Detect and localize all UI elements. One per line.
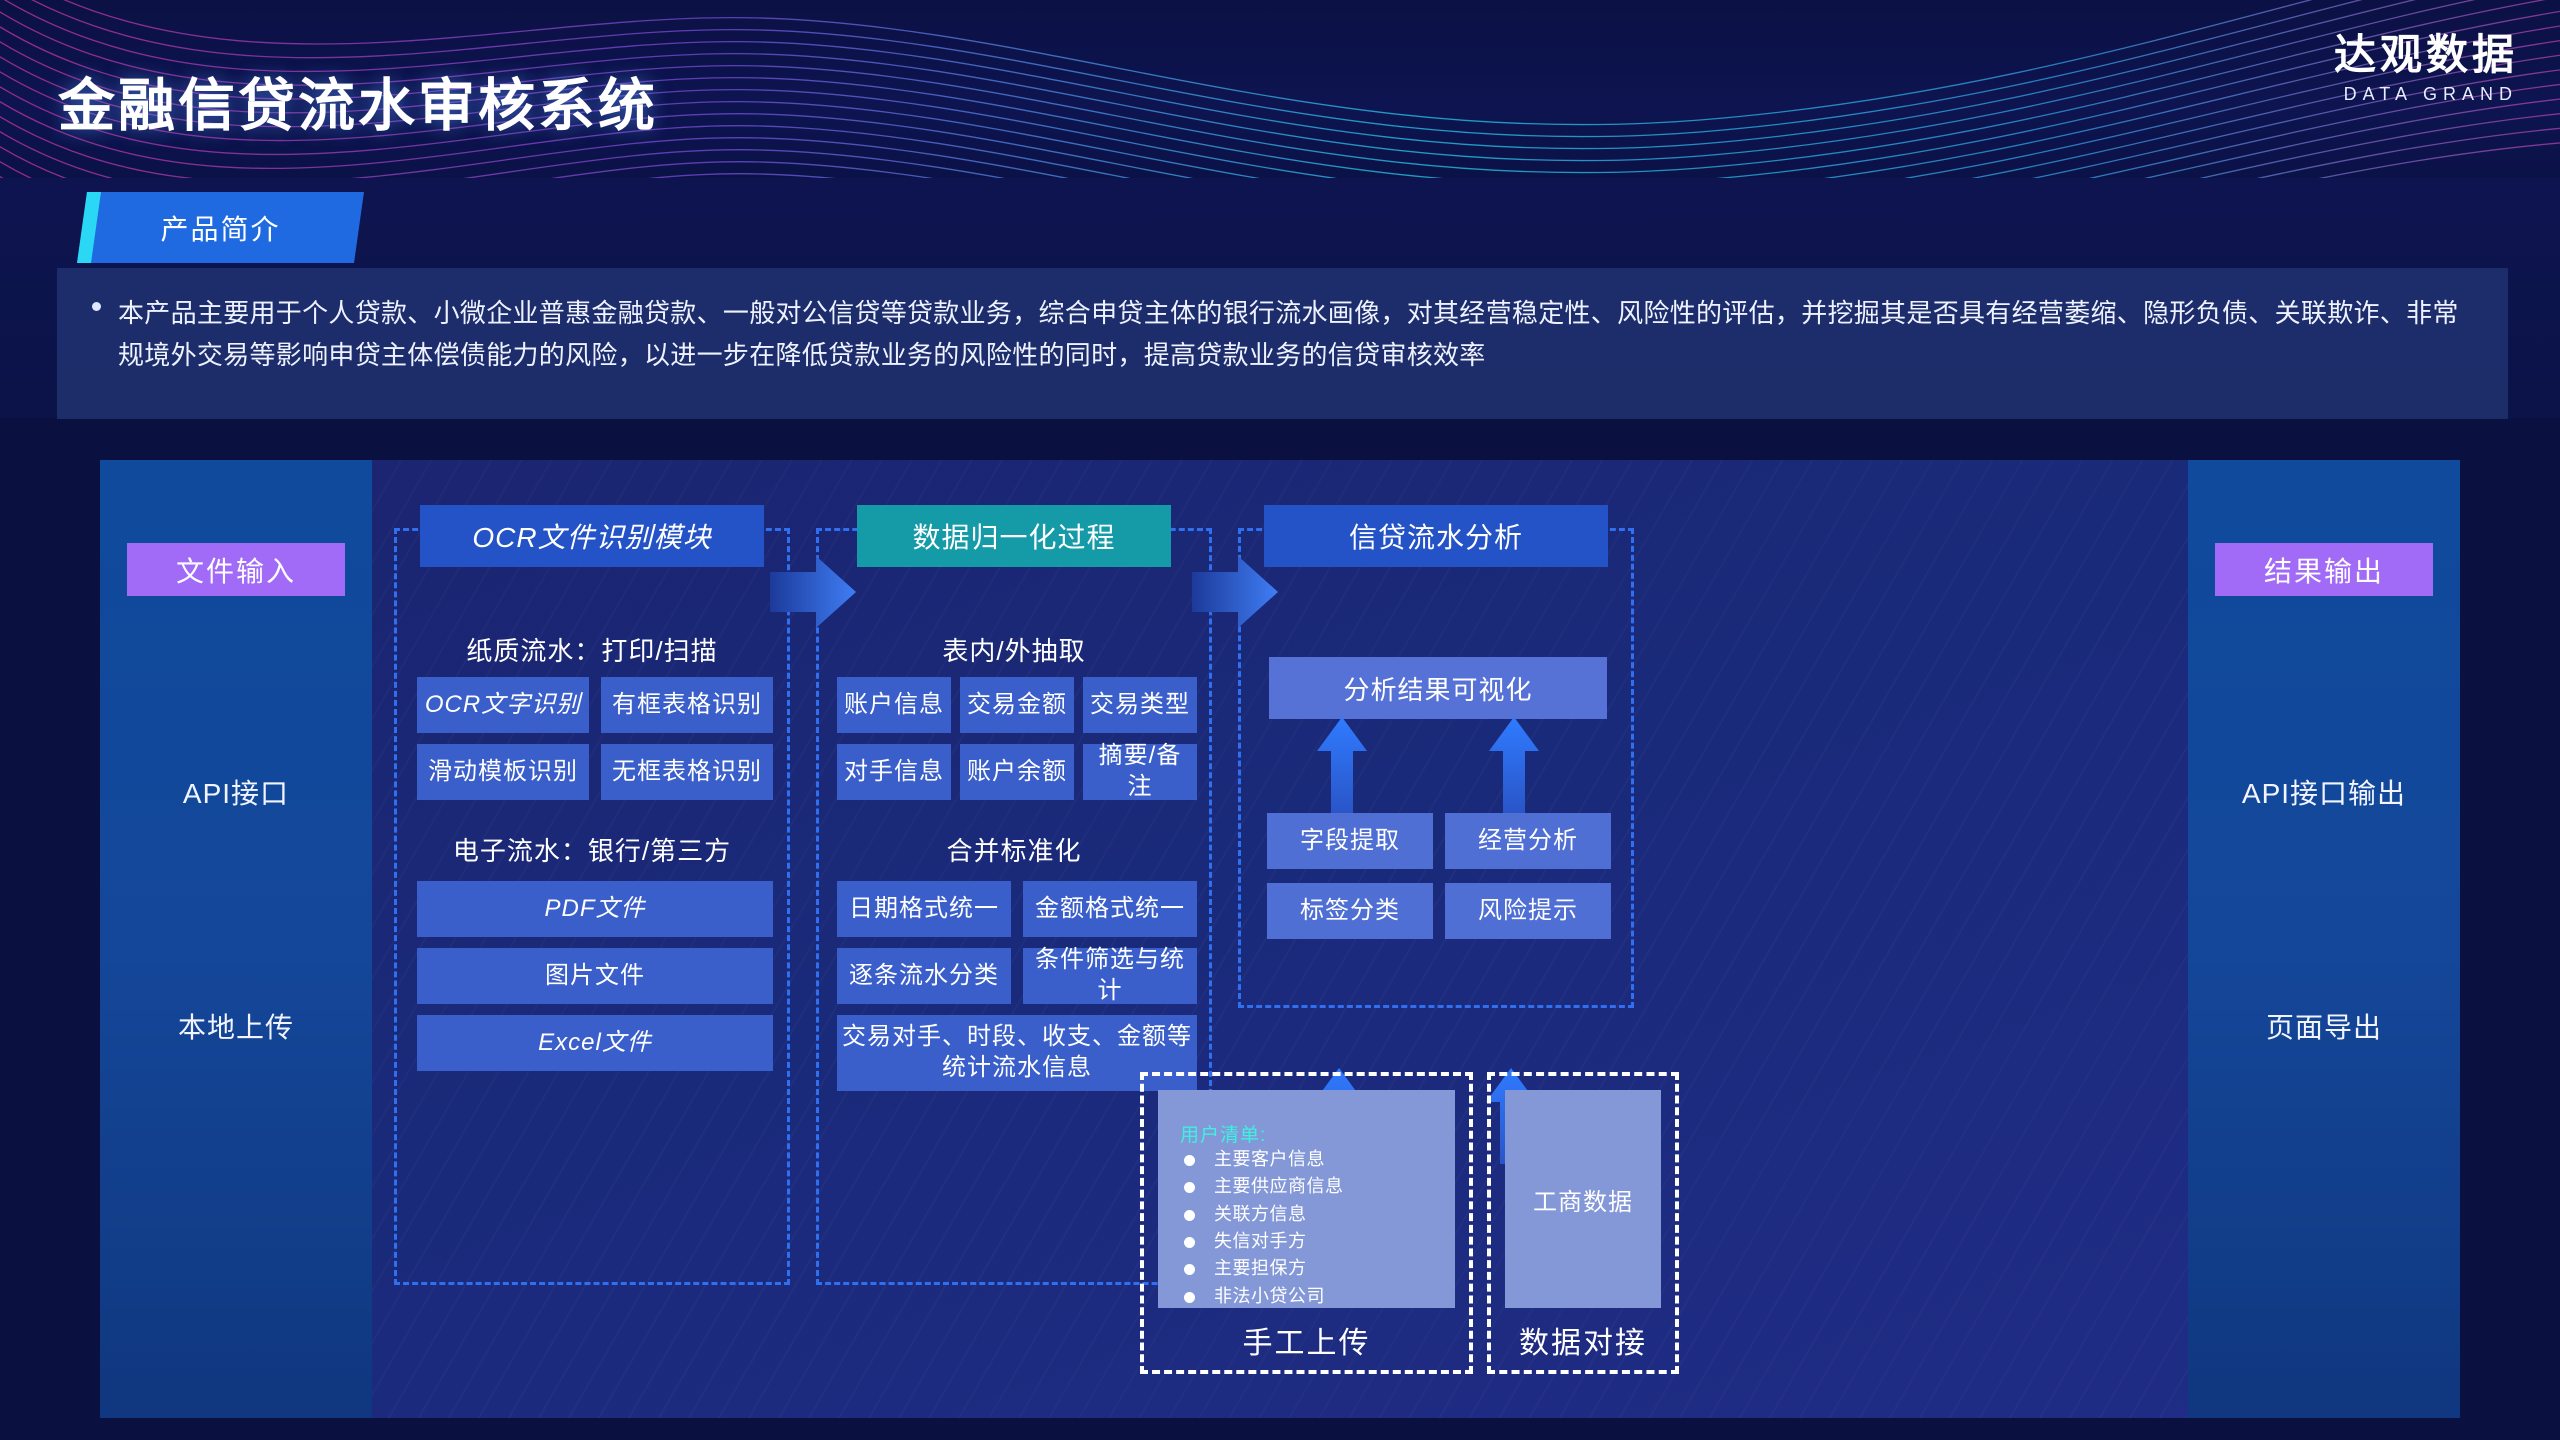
chip-bordered-table-recognition[interactable]: 有框表格识别 <box>601 677 773 733</box>
manual-upload-panel: 用户清单: 主要客户信息 主要供应商信息 关联方信息 失信对手方 主要担保方 非… <box>1158 1090 1455 1308</box>
chip-per-record-classification[interactable]: 逐条流水分类 <box>837 948 1011 1004</box>
data-docking-title: 数据对接 <box>1491 1318 1675 1362</box>
list-item: 主要供应商信息 <box>1180 1173 1344 1200</box>
chip-excel-file[interactable]: Excel文件 <box>417 1015 773 1071</box>
tab-product-intro-label: 产品简介 <box>82 192 359 263</box>
user-list: 主要客户信息 主要供应商信息 关联方信息 失信对手方 主要担保方 非法小贷公司 <box>1180 1146 1344 1310</box>
chip-account-balance[interactable]: 账户余额 <box>960 744 1074 800</box>
brand-logo: 达观数据 DATA GRAND <box>2334 32 2518 105</box>
chip-borderless-table-recognition[interactable]: 无框表格识别 <box>601 744 773 800</box>
chip-condition-filter-stats[interactable]: 条件筛选与统计 <box>1023 948 1197 1004</box>
stage-normalization-title: 数据归一化过程 <box>857 505 1171 567</box>
stage-ocr-title: OCR文件识别模块 <box>420 505 764 567</box>
flow-arrow-business-analysis-up <box>1489 717 1539 813</box>
file-input-column: 文件输入 API接口 本地上传 <box>100 460 372 1418</box>
stage-ocr: OCR文件识别模块 纸质流水：打印/扫描 OCR文字识别 有框表格识别 滑动模板… <box>394 528 790 1285</box>
chip-transaction-amount[interactable]: 交易金额 <box>960 677 1074 733</box>
stage-normalization-section1-label: 表内/外抽取 <box>819 631 1209 668</box>
page-header: 金融信贷流水审核系统 达观数据 DATA GRAND <box>0 0 2560 178</box>
chip-tag-classification[interactable]: 标签分类 <box>1267 883 1433 939</box>
result-output-item-api[interactable]: API接口输出 <box>2188 772 2460 812</box>
file-input-badge: 文件输入 <box>127 543 345 596</box>
brand-logo-en: DATA GRAND <box>2334 84 2518 105</box>
analysis-visualization-box[interactable]: 分析结果可视化 <box>1269 657 1607 719</box>
chip-business-analysis[interactable]: 经营分析 <box>1445 813 1611 869</box>
list-item: 主要客户信息 <box>1180 1146 1344 1173</box>
result-output-badge: 结果输出 <box>2215 543 2433 596</box>
intro-bullet-icon <box>92 302 101 311</box>
stage-ocr-section1-label: 纸质流水：打印/扫描 <box>397 631 787 668</box>
chip-transaction-type[interactable]: 交易类型 <box>1083 677 1197 733</box>
manual-upload-box: 用户清单: 主要客户信息 主要供应商信息 关联方信息 失信对手方 主要担保方 非… <box>1140 1072 1473 1374</box>
file-input-item-api[interactable]: API接口 <box>100 772 372 812</box>
list-item: 主要担保方 <box>1180 1255 1344 1282</box>
chip-account-info[interactable]: 账户信息 <box>837 677 951 733</box>
result-output-item-page[interactable]: 页面导出 <box>2188 1006 2460 1046</box>
chip-sliding-template-recognition[interactable]: 滑动模板识别 <box>417 744 589 800</box>
page-title: 金融信贷流水审核系统 <box>58 60 658 142</box>
stage-analysis: 信贷流水分析 分析结果可视化 字段提取 经营分析 标签分类 风险提示 <box>1238 528 1634 1008</box>
chip-counterparty-info[interactable]: 对手信息 <box>837 744 951 800</box>
intro-text: 本产品主要用于个人贷款、小微企业普惠金融贷款、一般对公信贷等贷款业务，综合申贷主… <box>118 292 2478 376</box>
chip-summary-remarks[interactable]: 摘要/备注 <box>1083 744 1197 800</box>
result-output-column: 结果输出 API接口输出 页面导出 <box>2188 460 2460 1418</box>
stage-ocr-section2-label: 电子流水：银行/第三方 <box>397 831 787 868</box>
flow-arrow-normalize-to-analysis <box>1192 556 1278 628</box>
flow-arrow-ocr-to-normalize <box>770 556 856 628</box>
list-item: 非法小贷公司 <box>1180 1283 1344 1310</box>
chip-pdf-file[interactable]: PDF文件 <box>417 881 773 937</box>
business-registry-data-label: 工商数据 <box>1505 1090 1661 1308</box>
chip-ocr-text-recognition[interactable]: OCR文字识别 <box>417 677 589 733</box>
list-item: 关联方信息 <box>1180 1201 1344 1228</box>
list-item: 失信对手方 <box>1180 1228 1344 1255</box>
stage-normalization-section2-label: 合并标准化 <box>819 831 1209 868</box>
tab-product-intro[interactable]: 产品简介 <box>77 192 364 263</box>
chip-image-file[interactable]: 图片文件 <box>417 948 773 1004</box>
data-docking-box: 工商数据 数据对接 <box>1487 1072 1679 1374</box>
chip-risk-alert[interactable]: 风险提示 <box>1445 883 1611 939</box>
file-input-item-local[interactable]: 本地上传 <box>100 1006 372 1046</box>
chip-date-format-unify[interactable]: 日期格式统一 <box>837 881 1011 937</box>
flow-arrow-field-extract-up <box>1317 717 1367 813</box>
stage-analysis-title: 信贷流水分析 <box>1264 505 1608 567</box>
chip-amount-format-unify[interactable]: 金额格式统一 <box>1023 881 1197 937</box>
manual-upload-title: 手工上传 <box>1144 1318 1469 1362</box>
user-list-title: 用户清单: <box>1180 1120 1266 1147</box>
data-docking-panel: 工商数据 <box>1505 1090 1661 1308</box>
brand-logo-cn: 达观数据 <box>2334 32 2518 78</box>
chip-field-extraction[interactable]: 字段提取 <box>1267 813 1433 869</box>
